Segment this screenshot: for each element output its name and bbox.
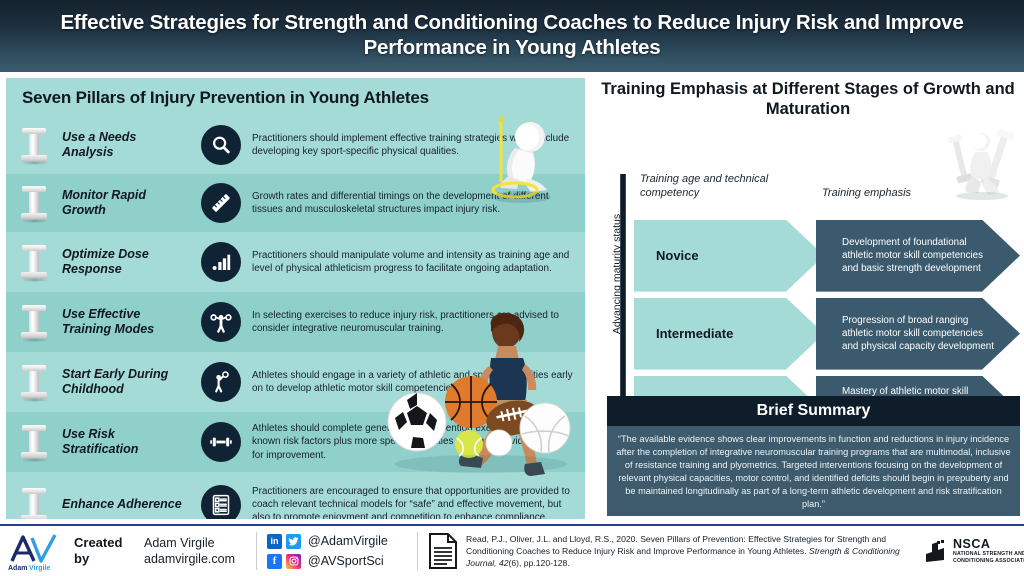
pillar-column-icon (21, 362, 47, 402)
social-links: in @AdamVirgile f @AVSportSci (267, 531, 417, 571)
page-footer: Adam Virgile Created by Adam Virgile ada… (0, 524, 1024, 576)
pillar-description-cell: Growth rates and differential timings on… (252, 190, 585, 216)
author-byline: Adam Virgile adamvirgile.com (144, 535, 256, 568)
pillar-column-icon-cell (6, 362, 62, 402)
pillar-name: Use a Needs Analysis (62, 130, 186, 161)
pillar-description: In selecting exercises to reduce injury … (252, 309, 577, 335)
stage-emphasis: Development of foundational athletic mot… (816, 236, 1020, 276)
stage-emphasis-chevron: Development of foundational athletic mot… (816, 220, 1020, 292)
brief-summary-text: “The available evidence shows clear impr… (607, 426, 1020, 516)
author-name: Adam Virgile (144, 535, 256, 551)
pillar-column-icon (21, 125, 47, 165)
brief-summary-panel: Brief Summary “The available evidence sh… (607, 396, 1020, 516)
pillar-name: Use Effective Training Modes (62, 307, 186, 338)
adam-virgile-logo[interactable]: Adam Virgile (6, 529, 68, 573)
pillar-column-icon (21, 302, 47, 342)
checklist-icon (201, 485, 241, 520)
pillar-description-cell: In selecting exercises to reduce injury … (252, 309, 585, 335)
dumbbell-icon (201, 422, 241, 462)
author-website[interactable]: adamvirgile.com (144, 551, 256, 567)
pillar-column-icon-cell (6, 485, 62, 520)
social-handle[interactable]: @AdamVirgile (308, 534, 388, 548)
pillar-description-cell: Practitioners should implement effective… (252, 132, 585, 158)
pillar-row: Monitor Rapid Growth Gr (6, 174, 585, 232)
pillar-column-icon (21, 183, 47, 223)
page-header: Effective Strategies for Strength and Co… (0, 0, 1024, 72)
pillar-column-icon-cell (6, 125, 62, 165)
pillar-name: Use Risk Stratification (62, 427, 186, 458)
social-handle[interactable]: @AVSportSci (308, 554, 384, 568)
pillar-row: Use Risk Stratification Athletes should … (6, 412, 585, 472)
stage-label: Novice (634, 248, 699, 263)
brief-summary-title: Brief Summary (607, 396, 1020, 426)
child-ball-icon (201, 362, 241, 402)
maturity-matrix: Advancing maturity status Training age a… (596, 128, 1020, 418)
pillar-name: Start Early During Childhood (62, 367, 186, 398)
column-header-training-age: Training age and technical competency (640, 172, 800, 201)
pillar-description-cell: Practitioners are encouraged to ensure t… (252, 485, 585, 519)
pillar-description-cell: Athletes should engage in a variety of a… (252, 369, 585, 395)
pillar-name-cell: Use Effective Training Modes (62, 307, 190, 338)
pillar-icon-cell (190, 183, 252, 223)
infographic-page: Effective Strategies for Strength and Co… (0, 0, 1024, 576)
created-by-label: Created by (74, 535, 136, 568)
pillar-description: Growth rates and differential timings on… (252, 190, 577, 216)
pillar-name: Enhance Adherence (62, 497, 186, 512)
social-row-adamvirgile: in @AdamVirgile (267, 531, 417, 551)
pillar-name-cell: Enhance Adherence (62, 497, 190, 512)
training-emphasis-panel: Training Emphasis at Different Stages of… (596, 78, 1020, 519)
instagram-icon[interactable] (286, 554, 301, 569)
footer-divider (256, 532, 257, 570)
pillar-name-cell: Start Early During Childhood (62, 367, 190, 398)
footer-divider (417, 532, 418, 570)
pillar-column-icon-cell (6, 422, 62, 462)
pillar-name: Monitor Rapid Growth (62, 188, 186, 219)
pillar-column-icon (21, 422, 47, 462)
stage-row-novice: Novice Development of foundational athle… (634, 220, 1020, 292)
stage-emphasis: Progression of broad ranging athletic mo… (816, 314, 1020, 354)
magnifier-icon (201, 125, 241, 165)
training-emphasis-title: Training Emphasis at Different Stages of… (596, 78, 1020, 128)
pillar-description-cell: Practitioners should manipulate volume a… (252, 249, 585, 275)
pillar-icon-cell (190, 242, 252, 282)
nsca-wordmark: NSCA NATIONAL STRENGTH AND CONDITIONING … (953, 537, 1024, 565)
figure-carrying-pillar-illustration (948, 122, 1016, 200)
pillar-row: Optimize Dose Response Practitioners sho… (6, 232, 585, 292)
citation-text: Read, P.J., Oliver, J.L. and Lloyd, R.S.… (466, 533, 916, 570)
twitter-icon[interactable] (286, 534, 301, 549)
pillar-name-cell: Monitor Rapid Growth (62, 188, 190, 219)
pillar-icon-cell (190, 125, 252, 165)
gymnast-rings-icon (201, 302, 241, 342)
pillar-name: Optimize Dose Response (62, 247, 186, 278)
pillar-column-icon (21, 242, 47, 282)
stage-emphasis-chevron: Progression of broad ranging athletic mo… (816, 298, 1020, 370)
nsca-subtitle-line2: CONDITIONING ASSOCIATION (953, 558, 1024, 565)
pillar-icon-cell (190, 485, 252, 520)
pillar-description: Practitioners should implement effective… (252, 132, 577, 158)
pillar-column-icon (21, 485, 47, 520)
stage-label-chevron: Intermediate (634, 298, 824, 370)
nsca-mark-icon (924, 538, 950, 564)
bar-chart-icon (201, 242, 241, 282)
ruler-icon (201, 183, 241, 223)
pillar-icon-cell (190, 302, 252, 342)
pillar-row: Use Effective Training Modes In selectin… (6, 292, 585, 352)
stage-row-intermediate: Intermediate Progression of broad rangin… (634, 298, 1020, 370)
nsca-logo: NSCA NATIONAL STRENGTH AND CONDITIONING … (924, 537, 1024, 565)
stage-label-chevron: Novice (634, 220, 824, 292)
pillar-row: Start Early During Childhood Athletes sh… (6, 352, 585, 412)
pillar-row: Use a Needs Analysis Practitioners shoul… (6, 116, 585, 174)
pillar-column-icon-cell (6, 242, 62, 282)
pillar-column-icon-cell (6, 302, 62, 342)
document-icon (428, 533, 458, 569)
pillar-description: Practitioners are encouraged to ensure t… (252, 485, 577, 519)
citation-part-2: (6), pp.120-128. (509, 558, 570, 568)
svg-text:Virgile: Virgile (29, 565, 50, 572)
pillar-icon-cell (190, 362, 252, 402)
stage-label: Intermediate (634, 326, 733, 341)
pillar-icon-cell (190, 422, 252, 462)
facebook-icon[interactable]: f (267, 554, 282, 569)
pillar-name-cell: Use Risk Stratification (62, 427, 190, 458)
pillar-description-cell: Athletes should complete generic injury … (252, 422, 585, 462)
maturity-axis: Advancing maturity status (596, 174, 630, 422)
pillar-description: Athletes should complete generic injury … (252, 422, 577, 462)
pillar-description: Athletes should engage in a variety of a… (252, 369, 577, 395)
pillar-name-cell: Use a Needs Analysis (62, 130, 190, 161)
social-row-avsportsci: f @AVSportSci (267, 551, 417, 571)
seven-pillars-title: Seven Pillars of Injury Prevention in Yo… (6, 78, 585, 116)
linkedin-icon[interactable]: in (267, 534, 282, 549)
seven-pillars-panel: Seven Pillars of Injury Prevention in Yo… (6, 78, 585, 519)
pillar-name-cell: Optimize Dose Response (62, 247, 190, 278)
down-arrow-icon (618, 174, 628, 422)
pillar-column-icon-cell (6, 183, 62, 223)
nsca-subtitle-line1: NATIONAL STRENGTH AND (953, 551, 1024, 558)
nsca-name: NSCA (953, 537, 1024, 551)
pillar-description: Practitioners should manipulate volume a… (252, 249, 577, 275)
pillar-row: Enhance Adherence (6, 472, 585, 519)
svg-text:Adam: Adam (8, 565, 27, 572)
page-title: Effective Strategies for Strength and Co… (47, 10, 977, 60)
